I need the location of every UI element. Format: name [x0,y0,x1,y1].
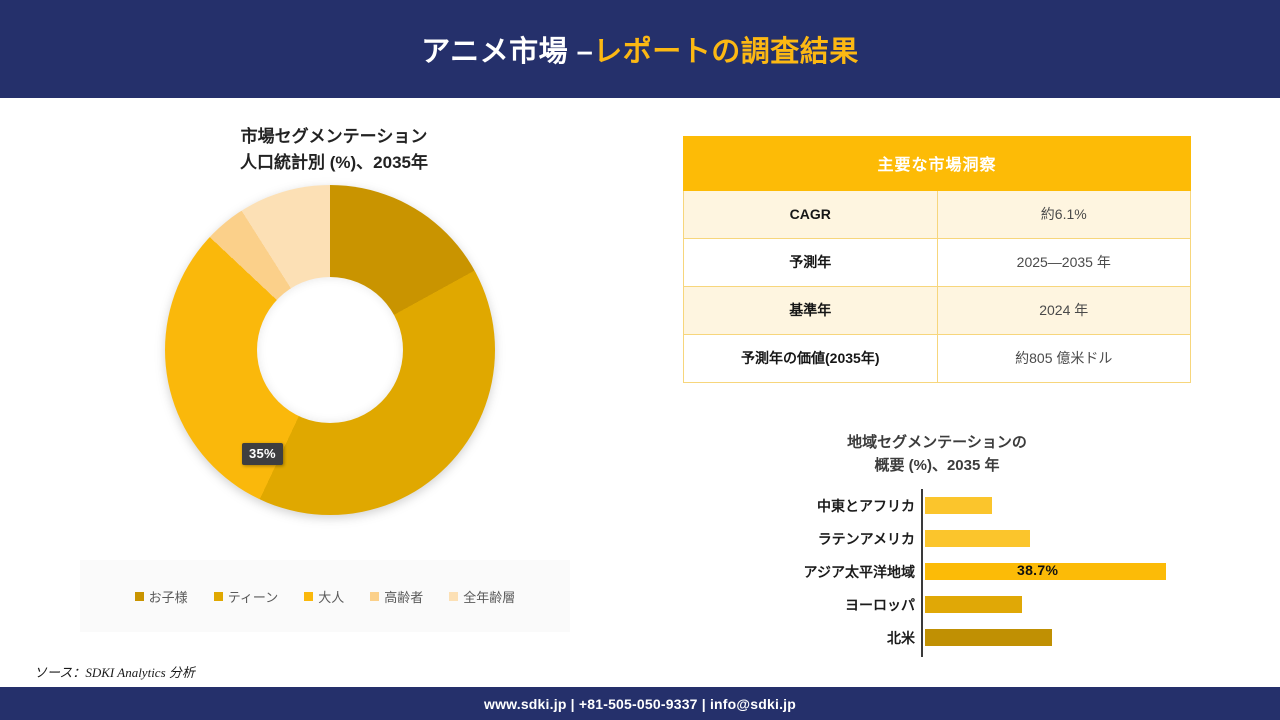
donut-title-line2: 人口統計別 (%)、2035年 [58,150,610,176]
table-cell-value: 2024 年 [937,287,1191,335]
bar-row: ヨーロッパ [683,588,1191,621]
table-cell-key: 予測年 [684,239,938,287]
bar-chart-title: 地域セグメンテーションの 概要 (%)、2035 年 [683,430,1191,477]
legend-item[interactable]: 全年齢層 [449,587,515,606]
table-cell-key: 予測年の価値(2035年) [684,335,938,383]
page-title: アニメ市場 –レポートの調査結果 [421,28,859,70]
page-footer: www.sdki.jp | +81-505-050-9337 | info@sd… [0,687,1280,720]
legend-item[interactable]: お子様 [135,587,188,606]
legend-item-label: お子様 [149,587,188,606]
bar-row: ラテンアメリカ [683,522,1191,555]
footer-contact-text: www.sdki.jp | +81-505-050-9337 | info@sd… [484,696,796,712]
legend-item-label: 高齢者 [384,587,423,606]
donut-hole [257,277,403,423]
bar-data-label: 38.7% [1017,562,1058,578]
bar-chart-plot: 中東とアフリカラテンアメリカアジア太平洋地域38.7%ヨーロッパ北米 [683,489,1191,659]
bar-fill[interactable] [925,530,1030,547]
bar-row: 中東とアフリカ [683,489,1191,522]
table-cell-key: CAGR [684,191,938,239]
insights-table-header: 主要な市場洞察 [684,137,1191,191]
bar-track [925,621,1191,654]
bar-category-label: ラテンアメリカ [683,529,923,549]
bar-track [925,588,1191,621]
legend-item-label: ティーン [228,587,279,606]
table-row: 基準年2024 年 [684,287,1191,335]
bar-track [925,489,1191,522]
page-title-accent: レポートの調査結果 [593,36,859,68]
bar-category-label: アジア太平洋地域 [683,562,923,582]
table-cell-value: 2025—2035 年 [937,239,1191,287]
bar-row: アジア太平洋地域38.7% [683,555,1191,588]
donut-legend: お子様ティーン大人高齢者全年齢層 [80,560,570,632]
legend-swatch-icon [135,592,144,601]
bar-title-line1: 地域セグメンテーションの [683,432,1191,455]
table-cell-value: 約805 億米ドル [937,335,1191,383]
legend-item[interactable]: 高齢者 [370,587,423,606]
bar-category-label: ヨーロッパ [683,595,923,615]
bar-category-label: 中東とアフリカ [683,496,923,516]
bar-fill[interactable] [925,629,1052,646]
regional-bar-panel: 地域セグメンテーションの 概要 (%)、2035 年 中東とアフリカラテンアメリ… [683,430,1191,680]
donut-panel: 市場セグメンテーション 人口統計別 (%)、2035年 35% お子様ティーン大… [30,112,610,652]
bar-row: 北米 [683,621,1191,654]
source-note: ソース：SDKI Analytics 分析 [34,662,195,681]
donut-title-line1: 市場セグメンテーション [58,124,610,150]
key-market-insights-table: 主要な市場洞察 CAGR約6.1%予測年2025—2035 年基準年2024 年… [683,136,1191,383]
table-cell-value: 約6.1% [937,191,1191,239]
page-header: アニメ市場 –レポートの調査結果 [0,0,1280,98]
donut-chart-title: 市場セグメンテーション 人口統計別 (%)、2035年 [30,124,610,177]
legend-item-label: 全年齢層 [463,587,515,606]
table-row: CAGR約6.1% [684,191,1191,239]
bar-fill[interactable] [925,596,1022,613]
legend-swatch-icon [214,592,223,601]
bar-track: 38.7% [925,555,1191,588]
table-row: 予測年2025—2035 年 [684,239,1191,287]
legend-item-label: 大人 [318,587,344,606]
legend-swatch-icon [449,592,458,601]
bar-title-line2: 概要 (%)、2035 年 [683,455,1191,478]
legend-swatch-icon [304,592,313,601]
legend-swatch-icon [370,592,379,601]
legend-item[interactable]: ティーン [214,587,279,606]
legend-item[interactable]: 大人 [304,587,344,606]
donut-data-label: 35% [242,443,283,465]
table-row: 予測年の価値(2035年)約805 億米ドル [684,335,1191,383]
bar-category-label: 北米 [683,628,923,648]
bar-fill[interactable] [925,497,992,514]
page-title-primary: アニメ市場 – [421,36,593,68]
bar-track [925,522,1191,555]
table-cell-key: 基準年 [684,287,938,335]
donut-chart: 35% [165,185,495,515]
